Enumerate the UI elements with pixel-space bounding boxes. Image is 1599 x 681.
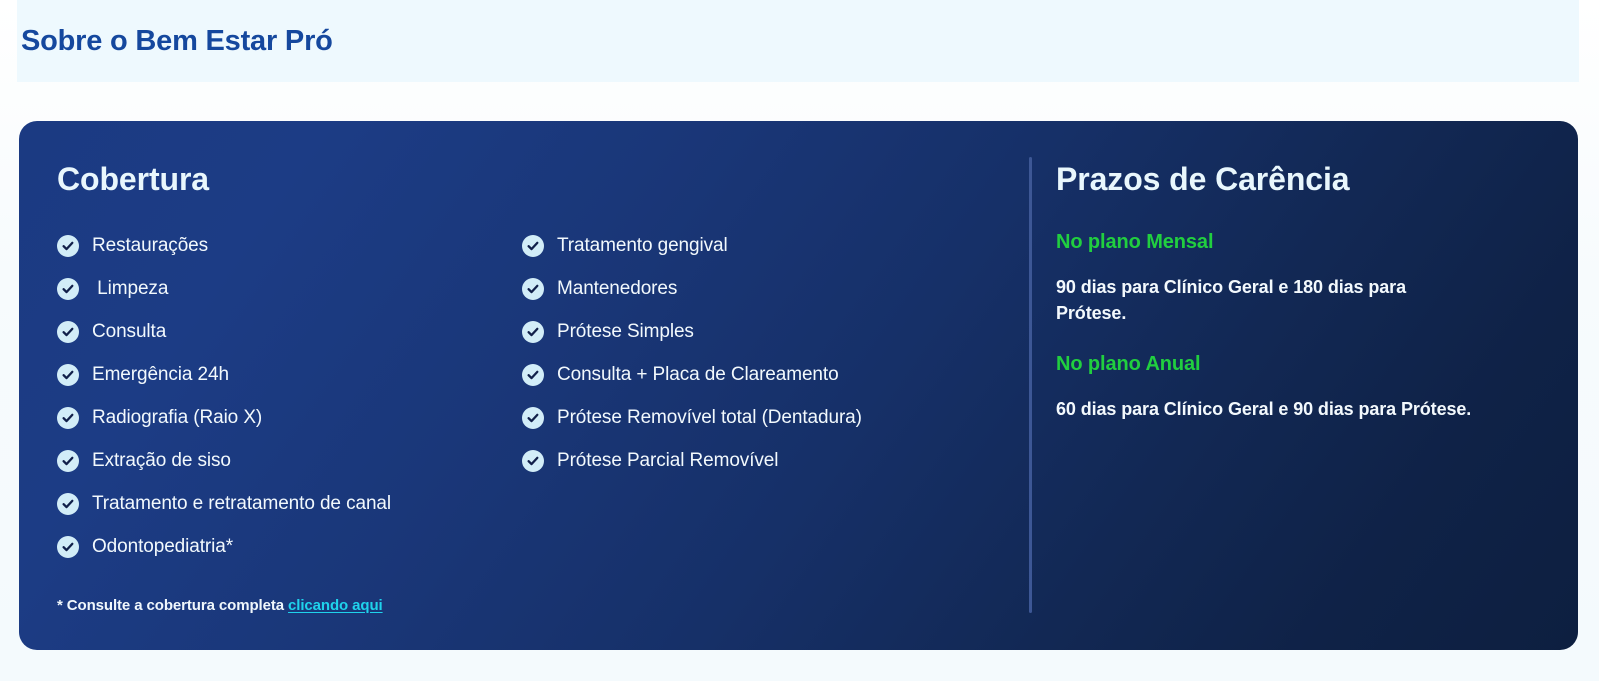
coverage-column-right: Tratamento gengival Mantenedores Prótese… <box>522 224 1022 568</box>
feature-label: Extração de siso <box>92 450 231 472</box>
feature-label: Consulta + Placa de Clareamento <box>557 364 839 386</box>
list-item: Mantenedores <box>522 267 1022 310</box>
feature-label: Consulta <box>92 321 166 343</box>
list-item: Consulta + Placa de Clareamento <box>522 353 1022 396</box>
check-circle-icon <box>57 235 79 257</box>
check-circle-icon <box>57 493 79 515</box>
check-circle-icon <box>57 278 79 300</box>
list-item: Odontopediatria* <box>57 525 522 568</box>
check-circle-icon <box>57 407 79 429</box>
check-circle-icon <box>522 235 544 257</box>
plan-title-mensal: No plano Mensal <box>1056 231 1538 254</box>
coverage-column-left: Restaurações Limpeza Consulta <box>57 224 522 568</box>
check-circle-icon <box>57 536 79 558</box>
feature-label: Prótese Parcial Removível <box>557 450 778 472</box>
coverage-details-link[interactable]: clicando aqui <box>288 597 383 614</box>
plan-body-mensal: 90 dias para Clínico Geral e 180 dias pa… <box>1056 274 1464 326</box>
feature-label: Odontopediatria* <box>92 536 233 558</box>
page-root: Sobre o Bem Estar Pró Cobertura Restaura… <box>0 0 1599 681</box>
feature-label: Tratamento gengival <box>557 235 728 257</box>
list-item: Emergência 24h <box>57 353 522 396</box>
list-item: Prótese Simples <box>522 310 1022 353</box>
check-circle-icon <box>57 321 79 343</box>
coverage-heading: Cobertura <box>57 161 1029 198</box>
coverage-footnote: * Consulte a cobertura completa clicando… <box>57 597 383 614</box>
list-item: Restaurações <box>57 224 522 267</box>
list-item: Consulta <box>57 310 522 353</box>
feature-label: Tratamento e retratamento de canal <box>92 493 391 515</box>
check-circle-icon <box>522 321 544 343</box>
feature-label: Restaurações <box>92 235 208 257</box>
carencia-heading: Prazos de Carência <box>1056 161 1538 198</box>
list-item: Prótese Removível total (Dentadura) <box>522 396 1022 439</box>
list-item: Extração de siso <box>57 439 522 482</box>
feature-label: Prótese Removível total (Dentadura) <box>557 407 862 429</box>
check-circle-icon <box>522 407 544 429</box>
footnote-text: * Consulte a cobertura completa <box>57 597 288 614</box>
feature-label: Mantenedores <box>557 278 677 300</box>
feature-label: Emergência 24h <box>92 364 229 386</box>
feature-label: Limpeza <box>92 278 168 300</box>
feature-label: Prótese Simples <box>557 321 694 343</box>
check-circle-icon <box>522 364 544 386</box>
check-circle-icon <box>57 450 79 472</box>
check-circle-icon <box>522 278 544 300</box>
page-title: Sobre o Bem Estar Pró <box>17 25 333 58</box>
list-item: Radiografia (Raio X) <box>57 396 522 439</box>
check-circle-icon <box>522 450 544 472</box>
plan-body-anual: 60 dias para Clínico Geral e 90 dias par… <box>1056 396 1538 422</box>
coverage-section: Cobertura Restaurações Limpeza <box>19 121 1029 650</box>
carencia-section: Prazos de Carência No plano Mensal 90 di… <box>1029 121 1578 650</box>
coverage-card: Cobertura Restaurações Limpeza <box>19 121 1578 650</box>
section-header: Sobre o Bem Estar Pró <box>17 0 1579 82</box>
plan-title-anual: No plano Anual <box>1056 353 1538 376</box>
list-item: Tratamento e retratamento de canal <box>57 482 522 525</box>
list-item: Limpeza <box>57 267 522 310</box>
feature-label: Radiografia (Raio X) <box>92 407 262 429</box>
coverage-columns: Restaurações Limpeza Consulta <box>57 224 1029 568</box>
list-item: Tratamento gengival <box>522 224 1022 267</box>
check-circle-icon <box>57 364 79 386</box>
list-item: Prótese Parcial Removível <box>522 439 1022 482</box>
